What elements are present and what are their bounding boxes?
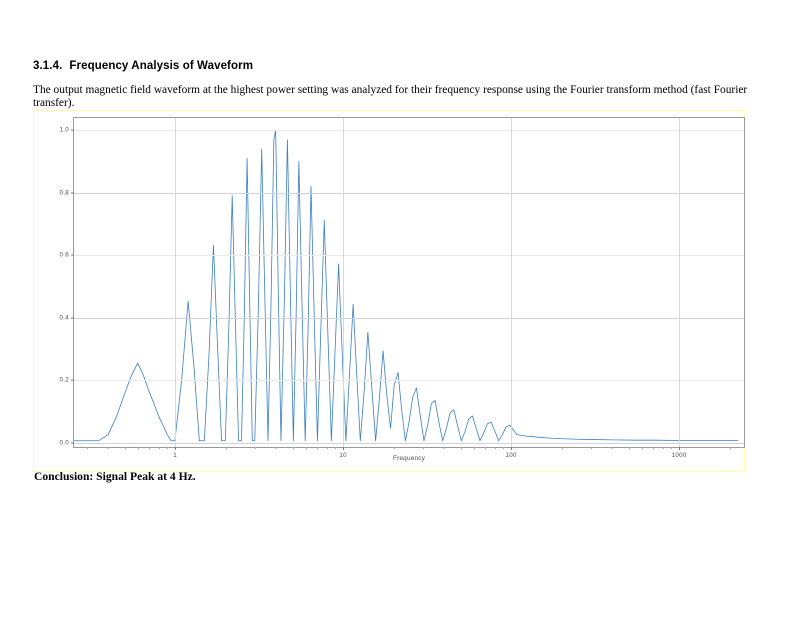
y-tick-mark [71,317,74,318]
x-tick-mark-minor [612,447,613,449]
x-tick-mark-minor [149,447,150,449]
x-tick-mark-minor [629,447,630,449]
x-tick-mark-minor [461,447,462,449]
conclusion-text: Conclusion: Signal Peak at 4 Hz. [34,470,196,483]
body-paragraph: The output magnetic field waveform at th… [33,84,777,110]
x-tick-mark-minor [485,447,486,449]
y-tick-mark [71,255,74,256]
y-tick-label: 0.0 [59,439,69,446]
x-tick-mark-minor [335,447,336,449]
y-tick-label: 1.0 [59,127,69,134]
x-tick-mark [343,447,344,450]
x-tick-mark-minor [642,447,643,449]
section-number: 3.1.4. [33,60,62,72]
section-heading: 3.1.4.Frequency Analysis of Waveform [33,60,253,72]
x-tick-mark-minor [671,447,672,449]
y-tick-mark [71,192,74,193]
x-tick-mark-minor [317,447,318,449]
x-axis-label: Frequency [73,455,745,462]
x-tick-mark-minor [562,447,563,449]
x-tick-mark-minor [276,447,277,449]
x-tick-mark-minor [138,447,139,449]
gridline-vertical [511,118,512,447]
x-tick-mark-minor [394,447,395,449]
x-tick-mark [679,447,680,450]
frequency-spectrum-chart: 0.00.20.40.60.81.01101001000 Frequency [33,110,747,474]
x-tick-mark-minor [423,447,424,449]
y-tick-label: 0.8 [59,189,69,196]
x-tick-mark-minor [226,447,227,449]
gridline-vertical [175,118,176,447]
x-tick-mark-minor [306,447,307,449]
x-tick-mark-minor [474,447,475,449]
x-tick-mark-minor [255,447,256,449]
y-tick-mark [71,442,74,443]
section-title: Frequency Analysis of Waveform [69,60,253,72]
x-tick-mark-minor [327,447,328,449]
x-tick-mark-minor [503,447,504,449]
x-tick-mark-minor [87,447,88,449]
x-tick-mark-minor [591,447,592,449]
y-tick-mark [71,380,74,381]
x-tick-mark-minor [444,447,445,449]
x-tick-mark-minor [125,447,126,449]
gridline-vertical [343,118,344,447]
x-tick-mark-minor [663,447,664,449]
x-tick-mark-minor [293,447,294,449]
y-tick-label: 0.6 [59,252,69,259]
x-tick-mark-minor [108,447,109,449]
plot-inner [74,118,744,447]
x-tick-mark [511,447,512,450]
gridline-vertical [679,118,680,447]
y-tick-label: 0.4 [59,314,69,321]
plot-area: 0.00.20.40.60.81.01101001000 [73,117,745,448]
document-page: 3.1.4.Frequency Analysis of Waveform The… [0,0,798,617]
x-tick-mark-minor [167,447,168,449]
y-tick-mark [71,130,74,131]
x-tick-mark-minor [495,447,496,449]
y-tick-label: 0.2 [59,377,69,384]
x-tick-mark-minor [730,447,731,449]
x-tick-mark-minor [653,447,654,449]
x-tick-mark [175,447,176,450]
x-tick-mark-minor [159,447,160,449]
